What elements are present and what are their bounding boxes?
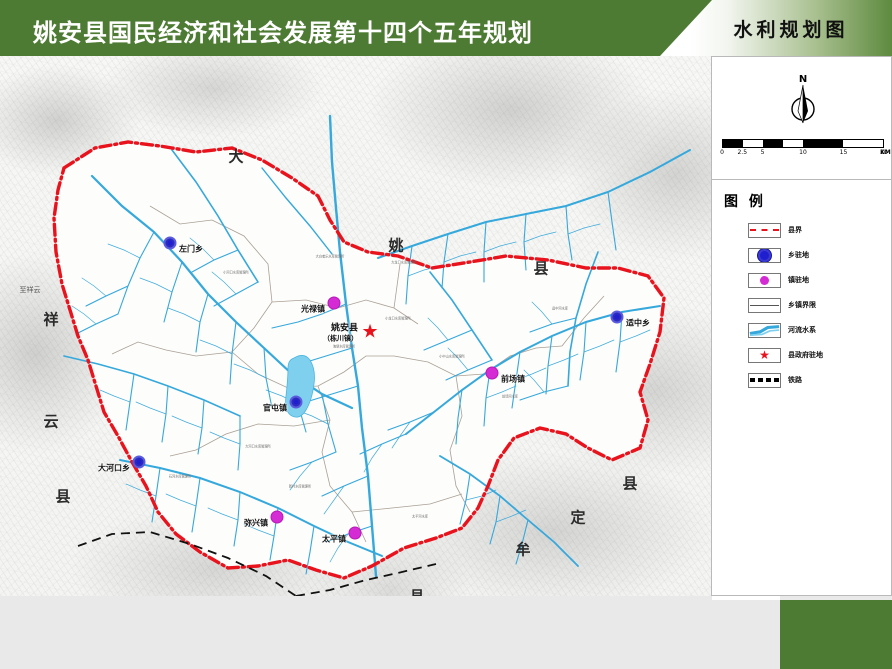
settlement-label: 前场镇 [501, 374, 525, 385]
tiny-map-label: 前场河水库 [502, 394, 518, 399]
legend-swatch [748, 248, 781, 263]
scale-tick: 10 [799, 149, 807, 156]
tiny-map-label: 适中河水库 [552, 306, 568, 311]
settlement-label: 左门乡 [179, 244, 203, 255]
legend-item-county-border: 县界 [748, 219, 888, 241]
settlement-label: 官屯镇 [263, 403, 287, 414]
legend-swatch [748, 223, 781, 238]
settlement-label: 弥兴镇 [244, 518, 268, 529]
footer-white-tab [712, 596, 780, 600]
tiny-map-label: 大龙口水库管理所 [391, 260, 417, 265]
legend-item-label: 县界 [788, 225, 802, 235]
legend-item-town-seat: 镇驻地 [748, 269, 888, 291]
neighbor-region-label: 姚 [388, 235, 403, 256]
scale-tick: 15 [840, 149, 848, 156]
svg-text:N: N [799, 74, 807, 85]
peripheral-label: 至祥云 [20, 285, 41, 295]
scale-tick: 0 [720, 149, 724, 156]
settlement-marker-town[interactable] [328, 297, 341, 310]
legend-item-railway: 铁路 [748, 369, 888, 391]
legend-title: 图 例 [724, 191, 766, 211]
settlement-label: 适中乡 [626, 318, 650, 329]
neighbor-region-label: 祥 [43, 309, 58, 330]
legend-item-label: 河流水系 [788, 325, 816, 335]
settlement-marker-township[interactable] [133, 456, 146, 469]
county-government-seat-marker[interactable]: ★ [361, 323, 378, 342]
railway-icon [750, 378, 779, 382]
settlement-marker-township[interactable] [611, 311, 624, 324]
legend-panel: N 0 2.5 5 10 15 20 KM [712, 56, 892, 596]
legend-swatch [748, 298, 781, 313]
legend-item-label: 铁路 [788, 375, 802, 385]
legend-item-label: 乡驻地 [788, 250, 809, 260]
legend-swatch: ★ [748, 348, 781, 363]
neighbor-region-label: 县 [533, 258, 548, 279]
county-seat-subname: （栋川镇） [323, 334, 358, 344]
legend-divider [712, 179, 891, 180]
tiny-map-label: 大白者乐水库管理所 [316, 254, 345, 259]
compass-rose-icon: N [782, 71, 824, 133]
settlement-marker-township[interactable] [164, 237, 177, 250]
neighbor-region-label: 牟 [515, 539, 530, 560]
footer-strip [0, 596, 892, 669]
map-poster: 姚安县国民经济和社会发展第十四个五年规划 水利规划图 [0, 0, 892, 669]
scale-bar: 0 2.5 5 10 15 20 KM [722, 139, 884, 161]
tiny-map-label: 小河口水库管理所 [223, 270, 249, 275]
neighbor-region-label: 县 [409, 586, 424, 597]
legend-swatch [748, 373, 781, 388]
county-seat-label: 姚安县（栋川镇） [323, 321, 358, 344]
tiny-map-label: 大河口水库管理所 [245, 444, 271, 449]
legend-item-county-government: ★县政府驻地 [748, 344, 888, 366]
settlement-label: 大河口乡 [98, 463, 130, 474]
settlement-marker-town[interactable] [271, 511, 284, 524]
scale-bar-blocks [722, 139, 884, 148]
tiny-map-label: 小龙口水库管理所 [385, 316, 411, 321]
tiny-map-label: 新村水库管理所 [289, 484, 311, 489]
page-title: 姚安县国民经济和社会发展第十四个五年规划 [33, 13, 533, 48]
neighbor-region-label: 云 [43, 411, 58, 432]
legend-item-label: 县政府驻地 [788, 350, 823, 360]
legend-swatch [748, 323, 781, 338]
scale-tick: 2.5 [737, 149, 747, 156]
legend-list: 县界乡驻地镇驻地乡镇界限河流水系★县政府驻地铁路 [748, 219, 888, 394]
tiny-map-label: 海埂水库管理所 [333, 344, 355, 349]
neighbor-region-label: 县 [622, 473, 637, 494]
settlement-marker-town[interactable] [486, 367, 499, 380]
county-seat-name: 姚安县 [323, 321, 358, 334]
neighbor-region-label: 大 [228, 146, 243, 167]
legend-item-label: 乡镇界限 [788, 300, 816, 310]
settlement-label: 太平镇 [322, 534, 346, 545]
legend-item-township-seat: 乡驻地 [748, 244, 888, 266]
scale-bar-ticks: 0 2.5 5 10 15 20 KM [722, 149, 884, 161]
neighbor-region-label: 县 [55, 486, 70, 507]
settlement-marker-town[interactable] [349, 527, 362, 540]
scale-tick: 5 [761, 149, 765, 156]
legend-item-township-boundary: 乡镇界限 [748, 294, 888, 316]
tiny-map-label: 石河水库管理所 [169, 474, 191, 479]
scale-unit-label: KM [880, 149, 891, 156]
township-seat-icon [760, 251, 769, 260]
township-boundary-icon [750, 305, 779, 306]
legend-item-label: 镇驻地 [788, 275, 809, 285]
map-canvas[interactable]: 小河口水库管理所 大白者乐水库管理所 大龙口水库管理所 小龙口水库管理所 海埂水… [0, 56, 712, 596]
legend-item-river-system: 河流水系 [748, 319, 888, 341]
map-subtitle: 水利规划图 [690, 0, 892, 56]
footer-green-block [780, 600, 892, 669]
tiny-map-label: 太平河水库 [412, 514, 428, 519]
neighbor-region-label: 定 [570, 507, 585, 528]
river-system-icon [749, 324, 780, 337]
tiny-map-label: 小中山水库管理所 [439, 354, 465, 359]
county-border-icon [750, 229, 779, 231]
settlement-marker-township[interactable] [290, 396, 303, 409]
county-government-icon: ★ [759, 349, 770, 361]
settlement-label: 光禄镇 [301, 304, 325, 315]
legend-swatch [748, 273, 781, 288]
town-seat-icon [760, 276, 769, 285]
